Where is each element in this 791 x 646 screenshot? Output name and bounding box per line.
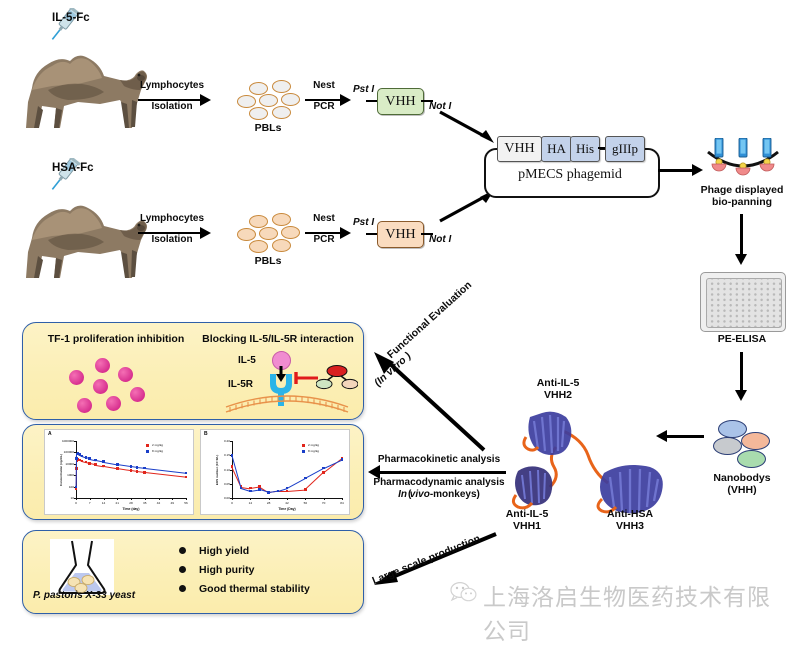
phagemid-name-label: pMECS phagemid <box>484 167 656 183</box>
phagemid-tag-giiip: gIIIp <box>605 136 645 162</box>
x-tick-label: 28 <box>262 501 276 505</box>
vhh-gene-label: VHH <box>385 227 415 243</box>
nanobodys-label-line2: (VHH) <box>694 484 790 496</box>
enzyme-label: Pst I <box>353 217 374 228</box>
vhh-gene-label: VHH <box>385 94 415 110</box>
structure-label-vhh3-line1: Anti-HSA <box>588 508 672 520</box>
tag-label: VHH <box>504 141 534 157</box>
x-tick-label: 56 <box>298 501 312 505</box>
data-point <box>341 458 344 461</box>
tag-label: His <box>576 141 594 157</box>
x-tick-label: 84 <box>335 501 349 505</box>
enzyme-label: Not I <box>429 234 451 245</box>
data-point <box>85 461 88 464</box>
data-point <box>88 457 91 460</box>
data-point <box>85 456 88 459</box>
data-point <box>94 459 97 462</box>
legend-label: 2 mg/kg <box>308 443 319 447</box>
nanobody-ellipse-4 <box>737 450 766 468</box>
enzyme-label: Pst I <box>353 84 374 95</box>
x-tick-label: 42 <box>280 501 294 505</box>
x-tick-label: 7 <box>83 501 97 505</box>
arrow-to-biopanning <box>658 169 694 172</box>
data-point <box>249 490 252 493</box>
x-tick-label: 70 <box>317 501 331 505</box>
legend-marker <box>146 450 149 453</box>
arrow-label-lymphocytes-2: Lymphocytes <box>134 213 210 225</box>
yeast-flask-illustration <box>50 539 114 595</box>
elisa-label: PE-ELISA <box>698 333 786 345</box>
tf1-cell <box>95 358 110 373</box>
nanobody-ellipse-2 <box>741 432 770 450</box>
data-point <box>88 462 91 465</box>
chart-b-xlabel: Time (Day) <box>232 507 342 511</box>
biopanning-label-line1: Phage displayed <box>693 184 791 196</box>
yeast-strain-text: P. pastoris X-33 yeast <box>33 590 135 601</box>
legend-label: 8 mg/kg <box>152 449 163 453</box>
arrow-label-pcr-1: PCR <box>300 101 348 113</box>
data-point <box>116 463 119 466</box>
data-point <box>75 486 78 489</box>
x-tick-label: 14 <box>243 501 257 505</box>
data-point <box>81 455 84 458</box>
enzyme-site-not1-right-2: Not I <box>429 234 451 246</box>
data-point <box>130 465 133 468</box>
structure-label-vhh2-line1: Anti-IL-5 <box>515 377 601 389</box>
biopanning-label-line2: bio-panning <box>693 196 791 208</box>
legend-marker <box>146 444 149 447</box>
x-tick-label: 42 <box>152 501 166 505</box>
enzyme-site-pst1-left-2: Pst I <box>353 217 374 229</box>
pbls-label-1: PBLs <box>232 122 304 134</box>
data-point <box>267 491 270 494</box>
company-name-footer: 上海洛启生物医药技术有限公司 <box>483 578 791 646</box>
data-point <box>116 467 119 470</box>
legend-label: 8 mg/kg <box>308 449 319 453</box>
antigen-label-2: HSA-Fc <box>52 162 94 175</box>
structure-label-vhh2-line2: VHH2 <box>515 389 601 401</box>
production-bullet-2: High purity <box>199 564 254 576</box>
x-tick-label: 35 <box>138 501 152 505</box>
pbls-label-2: PBLs <box>232 255 304 267</box>
data-point <box>143 471 146 474</box>
inhibition-bar-icon <box>292 371 318 389</box>
tf1-cell <box>130 387 145 402</box>
data-point <box>102 465 105 468</box>
data-point <box>136 466 139 469</box>
arrow-label-isolation-2: Isolation <box>134 234 210 246</box>
functional-evaluation-label-line1: Functional Evaluation <box>385 279 474 361</box>
blocking-interaction-title: Blocking IL-5/IL-5R interaction <box>198 333 358 345</box>
tf1-cell <box>69 370 84 385</box>
x-tick-label: 49 <box>165 501 179 505</box>
arrow-label-isolation-1: Isolation <box>134 101 210 113</box>
phagemid-tag-vhh: VHH <box>497 136 542 162</box>
x-tick-label: 28 <box>124 501 138 505</box>
legend-marker <box>302 444 305 447</box>
arrow-label-pcr-2: PCR <box>300 234 348 246</box>
enzyme-site-pst1-left-1: Pst I <box>353 84 374 96</box>
cell-membrane-icon <box>224 389 350 418</box>
elisa-plate-wells <box>706 278 782 328</box>
phagemid-tag-ha: HA <box>541 136 572 162</box>
in-vivo-monkeys-label: In vivo-monkeys) <box>364 489 514 501</box>
data-point <box>277 490 280 493</box>
data-point <box>130 469 133 472</box>
arrow-head <box>692 164 703 176</box>
x-tick-label: 21 <box>110 501 124 505</box>
data-point <box>231 465 234 468</box>
series-line-segment <box>145 472 186 477</box>
chart-a-xlabel: Time (day) <box>76 507 186 511</box>
arrow-label-nest-1: Nest <box>300 80 348 92</box>
tf1-cell <box>106 396 121 411</box>
data-point <box>304 488 307 491</box>
data-point <box>304 477 307 480</box>
structure-label-vhh3-line2: VHH3 <box>588 520 672 532</box>
data-point <box>75 457 78 460</box>
x-tick-label: 0 <box>69 501 83 505</box>
pd-analysis-label: Pharmacodynamic analysis <box>364 477 514 489</box>
data-point <box>81 460 84 463</box>
bullet-point <box>179 566 186 573</box>
wechat-logo-icon <box>449 581 477 603</box>
series-line-segment <box>323 460 342 469</box>
production-bullet-1: High yield <box>199 545 249 557</box>
arrow-head <box>735 390 747 401</box>
production-bullet-3: Good thermal stability <box>199 583 310 595</box>
arrow-label-nest-2: Nest <box>300 213 348 225</box>
x-tick-label: 14 <box>97 501 111 505</box>
structure-label-vhh1-line1: Anti-IL-5 <box>486 508 568 520</box>
data-point <box>185 476 188 479</box>
data-point <box>94 463 97 466</box>
data-point <box>136 470 139 473</box>
data-point <box>322 467 325 470</box>
tf1-cell <box>93 379 108 394</box>
chart-panel-b: B 0.000.050.100.150.200142842567084 2 mg… <box>200 429 350 515</box>
tag-label: HA <box>547 141 566 157</box>
in-vivo-paren-open: ( <box>408 489 411 501</box>
chart-panel-a: A 10100100010000100000100000007142128354… <box>44 429 194 515</box>
data-point <box>286 490 289 493</box>
chart-b-ylabel: EOS number (10^9/L) <box>215 438 219 502</box>
vhh-gene-box-1: VHH <box>377 88 424 115</box>
bullet-point <box>179 547 186 554</box>
arrow-label-lymphocytes-1: Lymphocytes <box>134 80 210 92</box>
elisa-plate <box>700 272 786 332</box>
biopanning-illustration <box>706 138 780 183</box>
legend-label: 2 mg/kg <box>152 443 163 447</box>
tf1-cell <box>118 367 133 382</box>
data-point <box>143 467 146 470</box>
vhh-gene-box-2: VHH <box>377 221 424 248</box>
il5-binding-arrow-icon <box>274 366 288 387</box>
chart-a-letter: A <box>48 431 52 437</box>
il5-label: IL-5 <box>238 355 256 367</box>
legend-marker <box>302 450 305 453</box>
arrow-to-elisa <box>740 214 743 256</box>
chart-a-ylabel: Concentration (ng/mL) <box>59 440 63 500</box>
data-point <box>102 460 105 463</box>
arrow-pk-pd <box>378 471 506 474</box>
bullet-point <box>179 585 186 592</box>
arrow-clone-top <box>438 110 498 150</box>
tf1-cell <box>77 398 92 413</box>
x-tick-label: 56 <box>179 501 193 505</box>
x-tick-label: 0 <box>225 501 239 505</box>
data-point <box>185 472 188 475</box>
series-line-segment <box>287 489 305 491</box>
data-point <box>286 487 289 490</box>
data-point <box>231 454 234 457</box>
tf1-proliferation-title: TF-1 proliferation inhibition <box>26 333 206 345</box>
tag-label: gIIIp <box>612 141 638 157</box>
yeast-strain-label: P. pastoris X-33 yeast <box>28 590 140 602</box>
antigen-label-1: IL-5-Fc <box>52 12 90 25</box>
chart-b-letter: B <box>204 431 208 437</box>
data-point <box>322 471 325 474</box>
data-point <box>240 487 243 490</box>
nanobody-ellipse-3 <box>713 437 742 455</box>
arrow-head <box>735 254 747 265</box>
nanobodys-label-line1: Nanobodys <box>694 472 790 484</box>
phagemid-tag-his: His <box>570 136 600 162</box>
data-point <box>258 488 261 491</box>
arrow-to-nanobodys <box>740 352 743 392</box>
series-line-segment <box>287 478 306 489</box>
pk-analysis-label: Pharmacokinetic analysis <box>364 454 514 466</box>
